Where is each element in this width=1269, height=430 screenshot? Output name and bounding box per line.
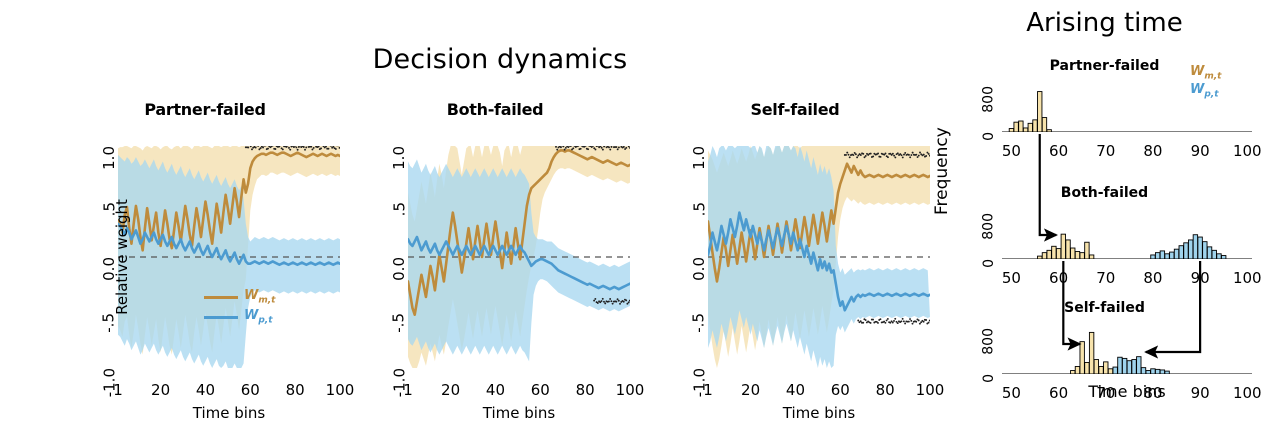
hist-x-tick-label: 80 xyxy=(1143,384,1162,402)
y-tick-label: .5 xyxy=(690,202,708,216)
x-tick-label: 20 xyxy=(151,381,170,399)
hist-y-tick-label: 800 xyxy=(981,328,997,355)
plot-area-self-failed: Time bins 1.0.50.0-.5-1.0120406080100 xyxy=(708,146,930,368)
hist-x-tick-label: 80 xyxy=(1143,269,1162,287)
x-tick-label: 40 xyxy=(486,381,505,399)
x-tick-label: 20 xyxy=(441,381,460,399)
dynamics-panel-both-failed: Both-failed Time bins 1.0.50.0-.5-1.0120… xyxy=(350,100,640,400)
hist-x-tick-label: 50 xyxy=(1002,384,1021,402)
x-tick-label: 80 xyxy=(876,381,895,399)
panel-title: Partner-failed xyxy=(60,100,350,119)
hist-x-tick-label: 100 xyxy=(1233,142,1262,160)
x-tick-label: 80 xyxy=(576,381,595,399)
hist-panel-both-failed: Both-failed 80005060708090100 xyxy=(940,185,1269,305)
dynamics-svg xyxy=(408,146,630,368)
x-axis-label: Time bins xyxy=(483,404,556,422)
hist-legend-wm: Wm,t xyxy=(1190,64,1221,82)
hist-x-tick-label: 100 xyxy=(1233,269,1262,287)
legend-label-wp: Wp,t xyxy=(244,308,273,326)
legend-swatch-wp xyxy=(204,316,238,319)
hist-x-tick-label: 60 xyxy=(1049,384,1068,402)
hist-x-tick-label: 60 xyxy=(1049,142,1068,160)
hist-svg xyxy=(1002,207,1252,259)
y-tick-label: -.5 xyxy=(390,313,408,333)
y-tick-label: .5 xyxy=(100,202,118,216)
hist-x-tick-label: 80 xyxy=(1143,142,1162,160)
x-tick-label: 40 xyxy=(196,381,215,399)
hist-panel-self-failed: Self-failed 80005060708090100 xyxy=(940,300,1269,420)
y-tick-label: 0.0 xyxy=(690,257,708,281)
hist-x-tick-label: 60 xyxy=(1049,269,1068,287)
arising-time-section: Arising time Frequency Time bins Partner… xyxy=(940,0,1269,430)
hist-x-tick-label: 90 xyxy=(1191,269,1210,287)
hist-plot-partner-failed: Wm,t Wp,t 80005060708090100 xyxy=(1002,80,1252,132)
hist-y-tick-label: 0 xyxy=(981,259,997,268)
legend-label-wm: Wm,t xyxy=(244,288,275,306)
x-tick-label: 60 xyxy=(831,381,850,399)
y-tick-label: 1.0 xyxy=(390,146,408,170)
hist-y-tick-label: 800 xyxy=(981,86,997,113)
x-tick-label: 80 xyxy=(286,381,305,399)
hist-x-tick-label: 70 xyxy=(1096,142,1115,160)
x-tick-label: 1 xyxy=(703,381,713,399)
y-tick-label: 1.0 xyxy=(100,146,118,170)
x-axis-label: Time bins xyxy=(783,404,856,422)
x-tick-label: 60 xyxy=(241,381,260,399)
y-tick-label: -.5 xyxy=(690,313,708,333)
hist-plot-self-failed: 80005060708090100 xyxy=(1002,322,1252,374)
plot-area-partner-failed: Relative weight Time bins Wm,t Wp,t 1.0.… xyxy=(118,146,340,368)
y-tick-label: 0.0 xyxy=(100,257,118,281)
panel-title: Self-failed xyxy=(650,100,940,119)
x-tick-label: 1 xyxy=(113,381,123,399)
decision-dynamics-title: Decision dynamics xyxy=(340,44,660,75)
dynamics-svg xyxy=(118,146,340,368)
x-tick-label: 40 xyxy=(786,381,805,399)
dynamics-svg xyxy=(708,146,930,368)
hist-legend-wp: Wp,t xyxy=(1190,82,1219,100)
x-tick-label: 100 xyxy=(616,381,645,399)
x-tick-label: 20 xyxy=(741,381,760,399)
y-tick-label: .5 xyxy=(390,202,408,216)
decision-dynamics-section: Decision dynamics Partner-failed Relativ… xyxy=(0,0,940,430)
panel-title: Both-failed xyxy=(350,100,640,119)
y-tick-label: -.5 xyxy=(100,313,118,333)
hist-panel-title: Both-failed xyxy=(940,185,1269,201)
x-tick-label: 60 xyxy=(531,381,550,399)
hist-svg xyxy=(1002,322,1252,374)
hist-x-tick-label: 90 xyxy=(1191,384,1210,402)
plot-area-both-failed: Time bins 1.0.50.0-.5-1.0120406080100 xyxy=(408,146,630,368)
dynamics-panel-partner-failed: Partner-failed Relative weight Time bins… xyxy=(60,100,350,400)
hist-x-tick-label: 90 xyxy=(1191,142,1210,160)
hist-panel-partner-failed: Partner-failed Wm,t Wp,t 800050607080901… xyxy=(940,58,1269,178)
arising-time-title: Arising time xyxy=(940,8,1269,38)
x-axis-label: Time bins xyxy=(193,404,266,422)
hist-x-tick-label: 50 xyxy=(1002,269,1021,287)
dynamics-panel-self-failed: Self-failed Time bins 1.0.50.0-.5-1.0120… xyxy=(650,100,940,400)
legend-swatch-wm xyxy=(204,296,238,299)
hist-y-tick-label: 800 xyxy=(981,213,997,240)
hist-x-tick-label: 100 xyxy=(1233,384,1262,402)
hist-plot-both-failed: 80005060708090100 xyxy=(1002,207,1252,259)
x-tick-label: 1 xyxy=(403,381,413,399)
hist-panel-title: Self-failed xyxy=(940,300,1269,316)
hist-x-tick-label: 70 xyxy=(1096,384,1115,402)
hist-y-tick-label: 0 xyxy=(981,374,997,383)
y-tick-label: 0.0 xyxy=(390,257,408,281)
hist-y-tick-label: 0 xyxy=(981,132,997,141)
hist-x-tick-label: 50 xyxy=(1002,142,1021,160)
hist-x-tick-label: 70 xyxy=(1096,269,1115,287)
y-tick-label: 1.0 xyxy=(690,146,708,170)
